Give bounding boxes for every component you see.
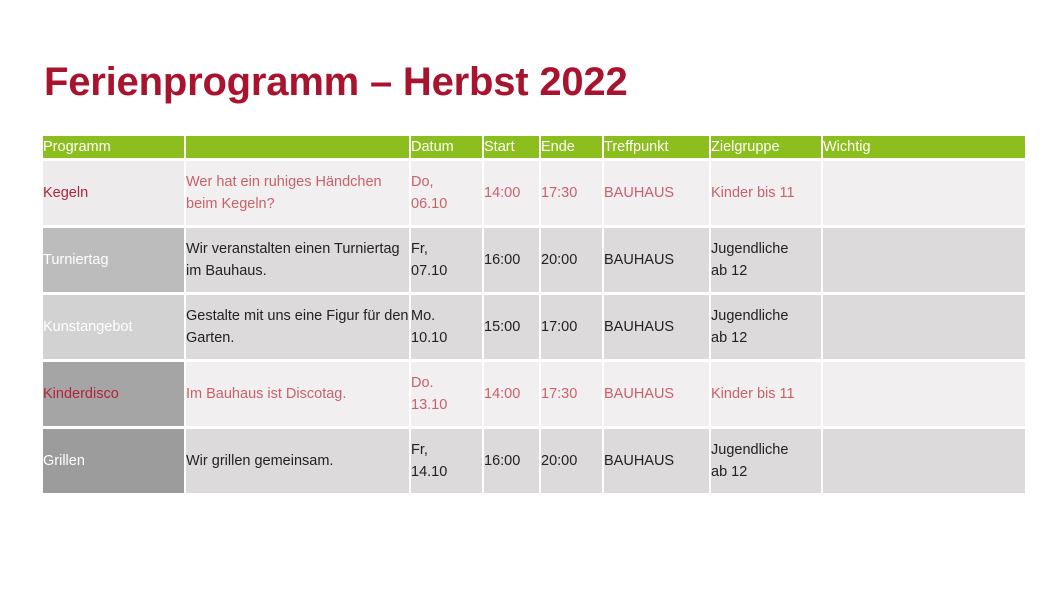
cell-start: 16:00: [484, 429, 539, 493]
zielgruppe-line-1: Jugendliche: [711, 439, 821, 461]
cell-wichtig: [823, 161, 1025, 225]
cell-datum: Fr, 07.10: [411, 228, 482, 292]
slide-canvas: Ferienprogramm – Herbst 2022 Programm Da…: [0, 0, 1056, 599]
column-header-beschreibung[interactable]: [186, 136, 409, 158]
zielgruppe-line-2: ab 12: [711, 327, 821, 349]
cell-beschreibung: Wer hat ein ruhiges Händchen beim Kegeln…: [186, 161, 409, 225]
cell-zielgruppe: Jugendliche ab 12: [711, 295, 821, 359]
cell-beschreibung: Wir veranstalten einen Turniertag im Bau…: [186, 228, 409, 292]
table-row[interactable]: Turniertag Wir veranstalten einen Turnie…: [43, 228, 1025, 292]
cell-treffpunkt: BAUHAUS: [604, 429, 709, 493]
zielgruppe-line-2: ab 12: [711, 260, 821, 282]
zielgruppe-line-1: Jugendliche: [711, 238, 821, 260]
table-row[interactable]: Kegeln Wer hat ein ruhiges Händchen beim…: [43, 161, 1025, 225]
datum-date: 07.10: [411, 260, 482, 282]
datum-weekday: Mo.: [411, 305, 482, 327]
zielgruppe-line-1: Kinder bis 11: [711, 383, 821, 405]
cell-datum: Fr, 14.10: [411, 429, 482, 493]
cell-ende: 20:00: [541, 228, 602, 292]
cell-treffpunkt: BAUHAUS: [604, 228, 709, 292]
zielgruppe-line-2: ab 12: [711, 461, 821, 483]
column-header-treffpunkt[interactable]: Treffpunkt: [604, 136, 709, 158]
table-row[interactable]: Kunstangebot Gestalte mit uns eine Figur…: [43, 295, 1025, 359]
datum-date: 10.10: [411, 327, 482, 349]
cell-zielgruppe: Kinder bis 11: [711, 362, 821, 426]
cell-beschreibung: Gestalte mit uns eine Figur für den Gart…: [186, 295, 409, 359]
datum-date: 14.10: [411, 461, 482, 483]
zielgruppe-line-1: Kinder bis 11: [711, 182, 821, 204]
cell-programm: Grillen: [43, 429, 184, 493]
column-header-zielgruppe[interactable]: Zielgruppe: [711, 136, 821, 158]
datum-weekday: Do,: [411, 171, 482, 193]
cell-treffpunkt: BAUHAUS: [604, 362, 709, 426]
datum-weekday: Fr,: [411, 238, 482, 260]
cell-ende: 17:30: [541, 362, 602, 426]
cell-datum: Do. 13.10: [411, 362, 482, 426]
datum-weekday: Do.: [411, 372, 482, 394]
cell-wichtig: [823, 295, 1025, 359]
cell-zielgruppe: Jugendliche ab 12: [711, 429, 821, 493]
cell-treffpunkt: BAUHAUS: [604, 161, 709, 225]
cell-wichtig: [823, 228, 1025, 292]
cell-start: 14:00: [484, 362, 539, 426]
cell-beschreibung: Im Bauhaus ist Discotag.: [186, 362, 409, 426]
column-header-programm[interactable]: Programm: [43, 136, 184, 158]
cell-programm: Kunstangebot: [43, 295, 184, 359]
table-row[interactable]: Grillen Wir grillen gemeinsam. Fr, 14.10…: [43, 429, 1025, 493]
column-header-ende[interactable]: Ende: [541, 136, 602, 158]
cell-ende: 20:00: [541, 429, 602, 493]
cell-start: 14:00: [484, 161, 539, 225]
cell-datum: Do, 06.10: [411, 161, 482, 225]
column-header-start[interactable]: Start: [484, 136, 539, 158]
zielgruppe-line-1: Jugendliche: [711, 305, 821, 327]
cell-start: 16:00: [484, 228, 539, 292]
cell-start: 15:00: [484, 295, 539, 359]
cell-ende: 17:00: [541, 295, 602, 359]
column-header-wichtig[interactable]: Wichtig: [823, 136, 1025, 158]
cell-programm: Turniertag: [43, 228, 184, 292]
datum-date: 13.10: [411, 394, 482, 416]
cell-zielgruppe: Jugendliche ab 12: [711, 228, 821, 292]
page-title: Ferienprogramm – Herbst 2022: [44, 60, 628, 105]
datum-date: 06.10: [411, 193, 482, 215]
cell-wichtig: [823, 362, 1025, 426]
program-table-container: Programm Datum Start Ende Treffpunkt Zie…: [41, 133, 1027, 496]
column-header-datum[interactable]: Datum: [411, 136, 482, 158]
table-row[interactable]: Kinderdisco Im Bauhaus ist Discotag. Do.…: [43, 362, 1025, 426]
datum-weekday: Fr,: [411, 439, 482, 461]
cell-datum: Mo. 10.10: [411, 295, 482, 359]
cell-ende: 17:30: [541, 161, 602, 225]
program-table: Programm Datum Start Ende Treffpunkt Zie…: [41, 133, 1027, 496]
table-header-row: Programm Datum Start Ende Treffpunkt Zie…: [43, 136, 1025, 158]
cell-zielgruppe: Kinder bis 11: [711, 161, 821, 225]
cell-beschreibung: Wir grillen gemeinsam.: [186, 429, 409, 493]
cell-programm: Kinderdisco: [43, 362, 184, 426]
cell-programm: Kegeln: [43, 161, 184, 225]
table-body: Kegeln Wer hat ein ruhiges Händchen beim…: [43, 161, 1025, 493]
cell-treffpunkt: BAUHAUS: [604, 295, 709, 359]
cell-wichtig: [823, 429, 1025, 493]
